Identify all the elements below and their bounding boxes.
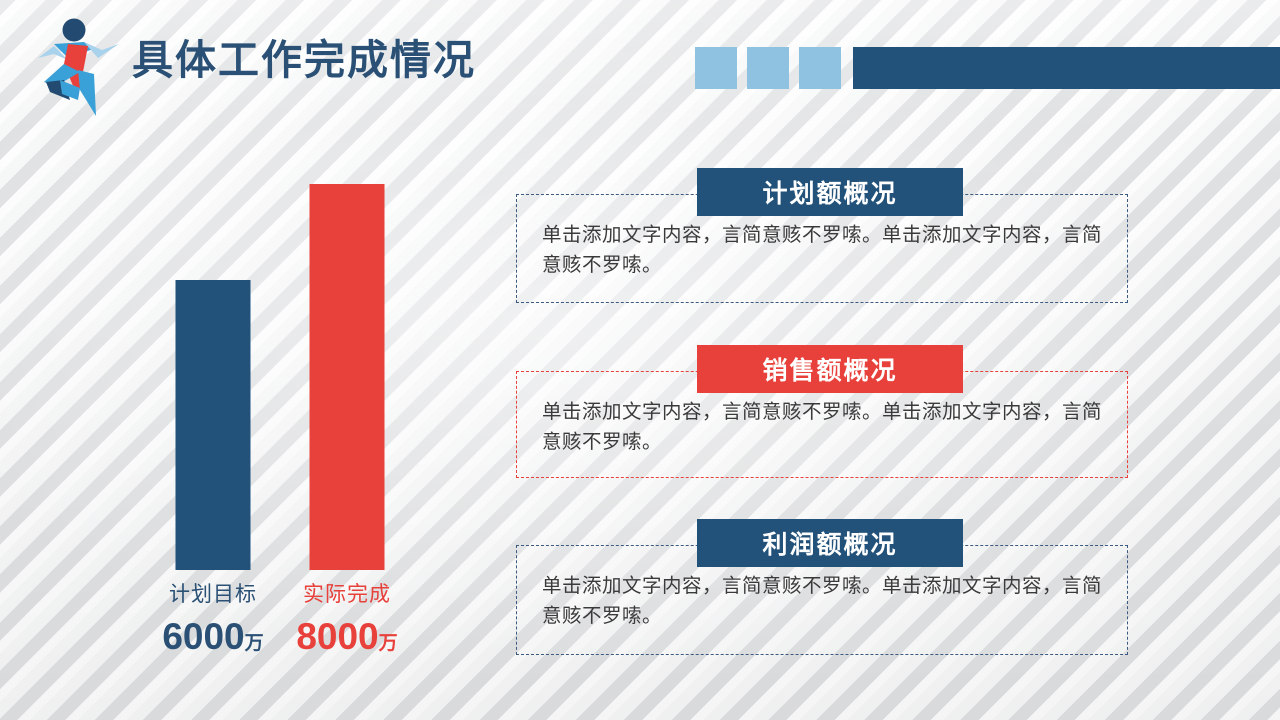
bar-chart: 计划目标 6000万 实际完成 8000万 — [150, 170, 450, 660]
deco-square-3 — [799, 47, 841, 89]
bar-value-plan-unit: 万 — [245, 633, 264, 654]
deco-square-2 — [747, 47, 789, 89]
header-decoration-bar — [853, 47, 1280, 89]
bar-value-plan: 6000万 — [153, 616, 273, 658]
bar-value-plan-number: 6000 — [162, 616, 244, 657]
info-panel-sales: 销售额概况 单击添加文字内容，言简意赅不罗嗦。单击添加文字内容，言简意赅不罗嗦。 — [516, 345, 1128, 477]
bar-label-actual: 实际完成 — [287, 578, 407, 608]
bar-value-actual-unit: 万 — [379, 633, 398, 654]
info-panel-sales-header: 销售额概况 — [697, 345, 963, 393]
info-panel-plan: 计划额概况 单击添加文字内容，言简意赅不罗嗦。单击添加文字内容，言简意赅不罗嗦。 — [516, 168, 1128, 300]
deco-square-1 — [695, 47, 737, 89]
info-panel-profit-header: 利润额概况 — [697, 519, 963, 567]
bar-value-actual: 8000万 — [287, 616, 407, 658]
bar-value-actual-number: 8000 — [296, 616, 378, 657]
logo-leg-right — [78, 70, 96, 116]
bar-plan — [176, 280, 251, 570]
page-title: 具体工作完成情况 — [132, 38, 476, 83]
logo-head — [63, 19, 86, 42]
header-decoration-squares — [695, 47, 851, 89]
slide-canvas: 具体工作完成情况 计划目标 6000万 实际完成 8000万 计划额概况 单击添… — [0, 0, 1280, 720]
running-figure-logo — [24, 14, 128, 126]
bar-label-plan: 计划目标 — [153, 578, 273, 608]
info-panel-plan-header: 计划额概况 — [697, 168, 963, 216]
bar-actual — [310, 184, 385, 570]
info-panel-profit: 利润额概况 单击添加文字内容，言简意赅不罗嗦。单击添加文字内容，言简意赅不罗嗦。 — [516, 519, 1128, 651]
